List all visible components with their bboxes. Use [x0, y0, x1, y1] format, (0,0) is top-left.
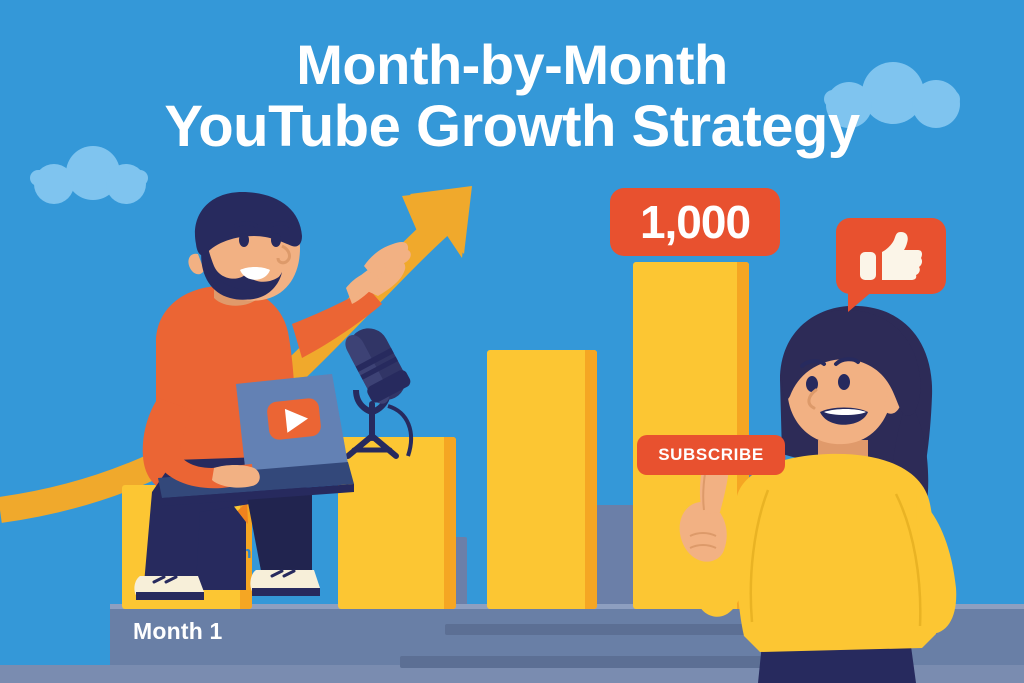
subscribe-button-label: SUBSCRIBE: [658, 445, 764, 465]
month-label: Month 1: [133, 618, 223, 645]
subscriber-count-value: 1,000: [640, 195, 750, 249]
subscriber-count-badge: 1,000: [610, 188, 780, 256]
bar-edge-3: [585, 350, 597, 609]
thumbs-up-icon: [860, 232, 922, 282]
subscribe-button[interactable]: SUBSCRIBE: [637, 435, 785, 475]
like-speech-bubble: [836, 218, 946, 294]
title-line-1: Month-by-Month: [0, 34, 1024, 96]
bar-edge-2: [444, 437, 456, 609]
standing-woman-pointing: [672, 304, 1024, 683]
speech-bubble-tail: [848, 290, 874, 312]
poster-title: Month-by-Month YouTube Growth Strategy: [0, 34, 1024, 158]
poster-canvas: Month-by-Month YouTube Growth Strategy: [0, 0, 1024, 683]
bar-month-3: [487, 350, 597, 609]
title-line-2: YouTube Growth Strategy: [0, 96, 1024, 158]
seated-man-with-laptop: [96, 192, 426, 612]
